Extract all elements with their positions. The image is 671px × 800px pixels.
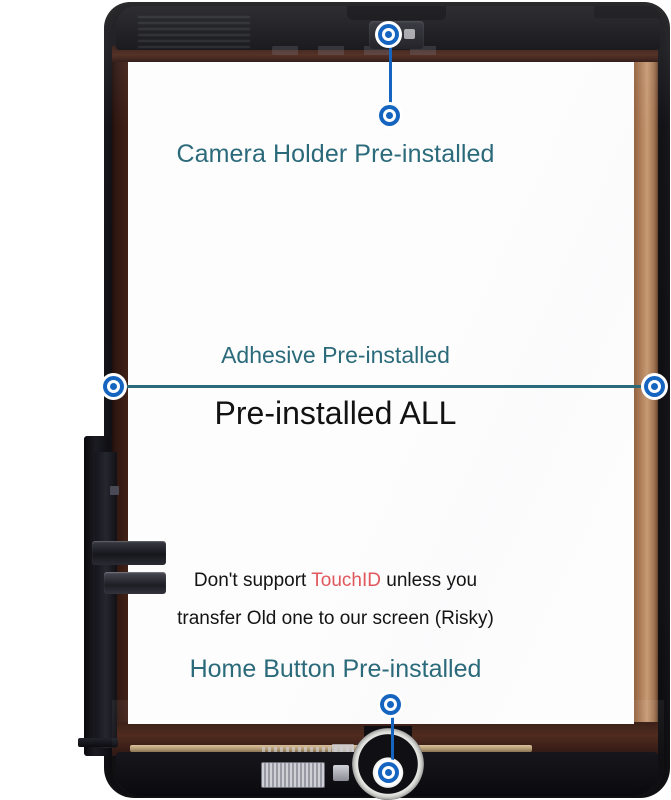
small-component <box>333 765 349 781</box>
pre-installed-all-label: Pre-installed ALL <box>0 395 671 432</box>
disclaimer-text-before: Don't support <box>194 570 311 591</box>
touchid-disclaimer-line-1: Don't support TouchID unless you <box>0 570 671 592</box>
touchid-disclaimer-line-2: transfer Old one to our screen (Risky) <box>0 608 671 630</box>
camera-holder-label: Camera Holder Pre-installed <box>0 140 671 169</box>
product-image-canvas: Camera Holder Pre-installed Adhesive Pre… <box>0 0 671 800</box>
flex-connector-upper <box>92 541 166 565</box>
bezel-gloss-top <box>104 2 670 162</box>
home-button-label: Home Button Pre-installed <box>0 655 671 684</box>
disclaimer-text-after: unless you <box>381 570 477 591</box>
home-button <box>352 728 424 800</box>
touchid-highlight: TouchID <box>311 570 381 591</box>
connector-pad <box>261 762 325 788</box>
flex-cable-chip <box>110 486 119 495</box>
adhesive-label: Adhesive Pre-installed <box>0 342 671 369</box>
